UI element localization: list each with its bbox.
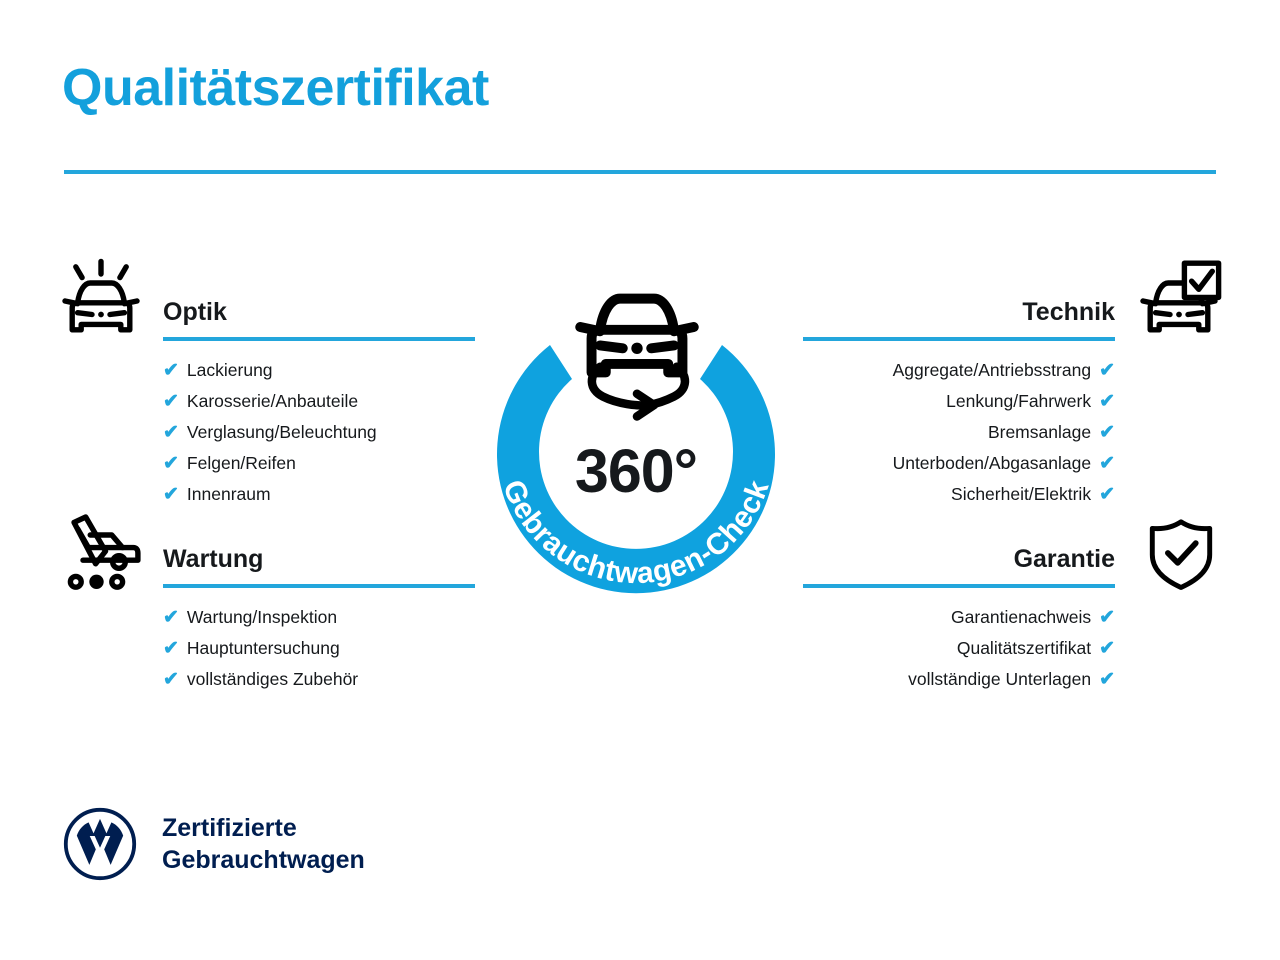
vw-logo-icon [62,806,138,882]
check-icon: ✔ [1099,356,1115,386]
list-item-label: Lenkung/Fahrwerk [946,386,1091,416]
list-item: ✔Garantienachweis [803,602,1115,633]
list-item: ✔vollständiges Zubehör [163,664,475,695]
check-icon: ✔ [1099,634,1115,664]
car-rotate-icon [580,299,694,417]
vw-lockup-line2: Gebrauchtwagen [162,844,365,876]
check-icon: ✔ [163,418,179,448]
check-icon: ✔ [163,665,179,695]
shield-check-icon [1140,512,1230,602]
check-icon: ✔ [163,634,179,664]
section-wartung: Wartung ✔Wartung/Inspektion ✔Hauptunters… [163,543,475,695]
badge-ring [497,345,775,593]
list-item: ✔Lenkung/Fahrwerk [803,386,1115,417]
section-checklist: ✔Aggregate/Antriebsstrang ✔Lenkung/Fahrw… [803,355,1115,510]
pen-car-dots-icon [56,508,146,598]
list-item-label: Karosserie/Anbauteile [187,386,358,416]
list-item: ✔Felgen/Reifen [163,448,475,479]
check-icon: ✔ [1099,665,1115,695]
vw-lockup-text: Zertifizierte Gebrauchtwagen [162,812,365,876]
section-checklist: ✔Garantienachweis ✔Qualitätszertifikat ✔… [803,602,1115,695]
list-item-label: Bremsanlage [988,417,1091,447]
list-item-label: vollständige Unterlagen [908,664,1091,694]
list-item-label: Felgen/Reifen [187,448,296,478]
list-item-label: Lackierung [187,355,273,385]
list-item-label: Sicherheit/Elektrik [951,479,1091,509]
car-front-checkbox-icon [1134,256,1224,346]
check-icon: ✔ [1099,418,1115,448]
list-item: ✔Sicherheit/Elektrik [803,479,1115,510]
list-item-label: Wartung/Inspektion [187,602,337,632]
list-item-label: Qualitätszertifikat [957,633,1091,663]
header-divider [64,170,1216,174]
section-divider [803,337,1115,341]
section-checklist: ✔Lackierung ✔Karosserie/Anbauteile ✔Verg… [163,355,475,510]
quality-certificate-page: Qualitätszertifikat Optik ✔Lackierung [0,0,1280,960]
section-divider [163,584,475,588]
list-item-label: vollständiges Zubehör [187,664,358,694]
vw-certified-lockup: Zertifizierte Gebrauchtwagen [62,806,365,882]
check-icon: ✔ [1099,387,1115,417]
section-garantie: Garantie ✔Garantienachweis ✔Qualitätszer… [803,543,1115,695]
car-front-shine-icon [56,256,146,346]
check-icon: ✔ [163,387,179,417]
section-heading: Technik [803,296,1115,328]
list-item: ✔vollständige Unterlagen [803,664,1115,695]
check-icon: ✔ [163,603,179,633]
list-item: ✔Innenraum [163,479,475,510]
section-heading: Garantie [803,543,1115,575]
list-item: ✔Karosserie/Anbauteile [163,386,475,417]
check-icon: ✔ [163,356,179,386]
badge-graphic: Gebrauchtwagen-Check [462,248,810,628]
section-divider [803,584,1115,588]
check-icon: ✔ [163,480,179,510]
gebrauchtwagen-check-badge: Gebrauchtwagen-Check 360° [462,248,810,628]
section-heading: Wartung [163,543,475,575]
vw-lockup-line1: Zertifizierte [162,812,365,844]
check-icon: ✔ [1099,480,1115,510]
check-icon: ✔ [163,449,179,479]
list-item-label: Innenraum [187,479,271,509]
list-item-label: Aggregate/Antriebsstrang [893,355,1091,385]
list-item: ✔Bremsanlage [803,417,1115,448]
list-item: ✔Qualitätszertifikat [803,633,1115,664]
list-item: ✔Wartung/Inspektion [163,602,475,633]
list-item: ✔Verglasung/Beleuchtung [163,417,475,448]
list-item: ✔Lackierung [163,355,475,386]
section-technik: Technik ✔Aggregate/Antriebsstrang ✔Lenku… [803,296,1115,510]
list-item-label: Hauptuntersuchung [187,633,340,663]
section-checklist: ✔Wartung/Inspektion ✔Hauptuntersuchung ✔… [163,602,475,695]
list-item-label: Garantienachweis [951,602,1091,632]
page-title: Qualitätszertifikat [62,60,489,117]
section-optik: Optik ✔Lackierung ✔Karosserie/Anbauteile… [163,296,475,510]
list-item: ✔Hauptuntersuchung [163,633,475,664]
section-divider [163,337,475,341]
section-heading: Optik [163,296,475,328]
list-item: ✔Unterboden/Abgasanlage [803,448,1115,479]
list-item: ✔Aggregate/Antriebsstrang [803,355,1115,386]
list-item-label: Unterboden/Abgasanlage [893,448,1092,478]
check-icon: ✔ [1099,449,1115,479]
list-item-label: Verglasung/Beleuchtung [187,417,377,447]
check-icon: ✔ [1099,603,1115,633]
